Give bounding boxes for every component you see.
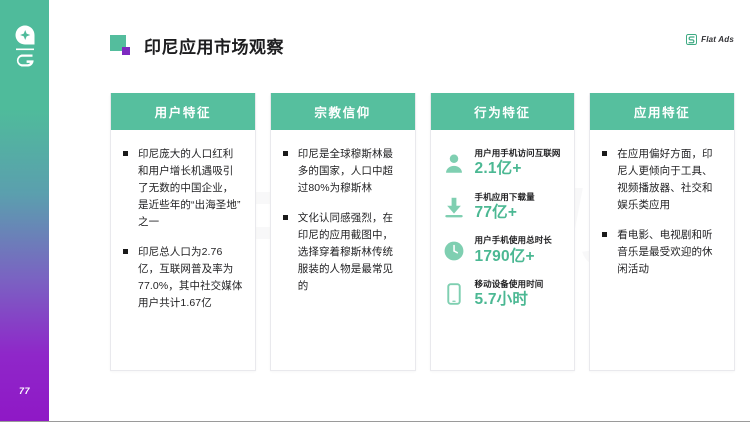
stat-label: 手机应用下载量: [475, 192, 535, 203]
stat-item-device-time: 移动设备使用时间 5.7小时: [441, 279, 563, 310]
card-app-characteristics: 应用特征 在应用偏好方面，印尼人更倾向于工具、视频播放器、社交和娱乐类应用 看电…: [589, 93, 735, 371]
phone-icon: [441, 280, 467, 308]
list-item: 印尼是全球穆斯林最多的国家，人口中超过80%为穆斯林: [281, 146, 403, 197]
card-header-label: 宗教信仰: [314, 102, 370, 121]
page-number: 77: [0, 386, 49, 396]
purple-square-icon: [122, 47, 130, 55]
card-body: 用户用手机访问互联网 2.1亿+: [431, 130, 575, 370]
card-religion: 宗教信仰 印尼是全球穆斯林最多的国家，人口中超过80%为穆斯林 文化认同感强烈，…: [270, 93, 416, 371]
card-header: 宗教信仰: [271, 93, 415, 130]
clock-icon: [441, 237, 467, 265]
list-item: 印尼总人口为2.76亿，互联网普及率为77.0%，其中社交媒体用户共计1.67亿: [121, 244, 243, 312]
card-header: 行为特征: [431, 93, 575, 130]
stat-text: 用户用手机访问互联网 2.1亿+: [475, 148, 561, 179]
card-body: 印尼是全球穆斯林最多的国家，人口中超过80%为穆斯林 文化认同感强烈，在印尼的应…: [271, 130, 415, 370]
stats-list: 用户用手机访问互联网 2.1亿+: [441, 146, 563, 310]
card-user-characteristics: 用户特征 印尼庞大的人口红利和用户增长机遇吸引了无数的中国企业，是近些年的“出海…: [110, 93, 256, 371]
card-header-label: 行为特征: [474, 102, 530, 121]
card-behavior: 行为特征 用户用手机访问互联网 2.1亿+: [430, 93, 576, 371]
title-decoration: [110, 35, 132, 57]
stat-label: 移动设备使用时间: [475, 279, 544, 290]
stat-value: 1790亿+: [475, 248, 552, 266]
slide-title-row: 印尼应用市场观察: [110, 33, 284, 58]
stat-label: 用户手机使用总时长: [475, 235, 552, 246]
stat-value: 2.1亿+: [475, 160, 561, 178]
flatads-logo-icon: [686, 34, 697, 45]
cards-row: 用户特征 印尼庞大的人口红利和用户增长机遇吸引了无数的中国企业，是近些年的“出海…: [110, 93, 735, 371]
brand-logo: Flat Ads: [686, 34, 734, 45]
card-header: 用户特征: [111, 93, 255, 130]
bullet-list: 在应用偏好方面，印尼人更倾向于工具、视频播放器、社交和娱乐类应用 看电影、电视剧…: [600, 146, 722, 278]
bullet-list: 印尼庞大的人口红利和用户增长机遇吸引了无数的中国企业，是近些年的“出海圣地”之一…: [121, 146, 243, 312]
list-item: 在应用偏好方面，印尼人更倾向于工具、视频播放器、社交和娱乐类应用: [600, 146, 722, 214]
stat-item-internet-users: 用户用手机访问互联网 2.1亿+: [441, 148, 563, 179]
stat-label: 用户用手机访问互联网: [475, 148, 561, 159]
stat-text: 手机应用下载量 77亿+: [475, 192, 535, 223]
card-body: 在应用偏好方面，印尼人更倾向于工具、视频播放器、社交和娱乐类应用 看电影、电视剧…: [590, 130, 734, 370]
page-title: 印尼应用市场观察: [144, 33, 284, 58]
person-icon: [441, 149, 467, 177]
download-icon: [441, 193, 467, 221]
left-gradient-rail: 77: [0, 0, 49, 422]
card-header-label: 用户特征: [155, 102, 211, 121]
list-item: 印尼庞大的人口红利和用户增长机遇吸引了无数的中国企业，是近些年的“出海圣地”之一: [121, 146, 243, 231]
list-item: 看电影、电视剧和听音乐是最受欢迎的休闲活动: [600, 227, 722, 278]
stat-value: 5.7小时: [475, 291, 544, 309]
stat-text: 移动设备使用时间 5.7小时: [475, 279, 544, 310]
list-item: 文化认同感强烈，在印尼的应用截图中，选择穿着穆斯林传统服装的人物是最常见的: [281, 210, 403, 295]
card-header-label: 应用特征: [634, 102, 690, 121]
brand-name: Flat Ads: [701, 35, 734, 44]
stat-item-usage-time-total: 用户手机使用总时长 1790亿+: [441, 235, 563, 266]
card-header: 应用特征: [590, 93, 734, 130]
guang-dian-tong-logo-icon: [12, 24, 38, 68]
stat-value: 77亿+: [475, 204, 535, 222]
stat-item-app-downloads: 手机应用下载量 77亿+: [441, 192, 563, 223]
stat-text: 用户手机使用总时长 1790亿+: [475, 235, 552, 266]
bullet-list: 印尼是全球穆斯林最多的国家，人口中超过80%为穆斯林 文化认同感强烈，在印尼的应…: [281, 146, 403, 295]
card-body: 印尼庞大的人口红利和用户增长机遇吸引了无数的中国企业，是近些年的“出海圣地”之一…: [111, 130, 255, 370]
slide-canvas: Flat Ads 77 印尼应用市场观察 Flat Ads 用户特征: [0, 0, 750, 422]
